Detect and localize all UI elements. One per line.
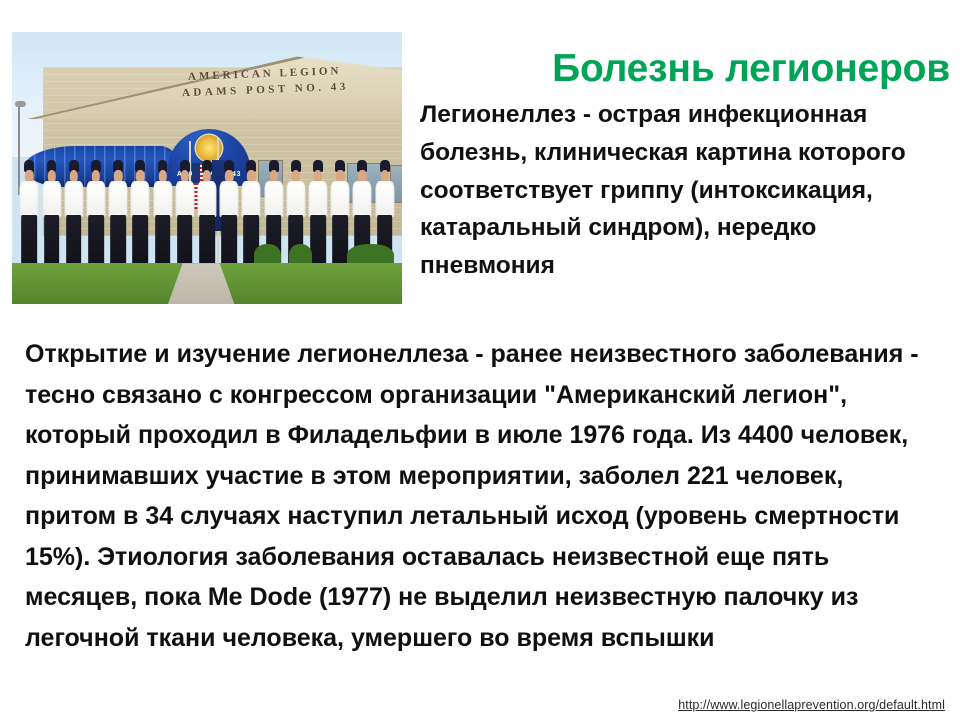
legionnaire xyxy=(131,160,150,269)
lead-paragraph: Легионеллез - острая инфекционная болезн… xyxy=(420,96,956,285)
legionnaire xyxy=(153,160,172,269)
source-url-link[interactable]: http://www.legionellaprevention.org/defa… xyxy=(678,698,945,712)
photo-color-guard-line xyxy=(20,160,394,269)
slide: AMERICAN LEGION ADAMS POST NO. 43 ADAMS … xyxy=(0,0,960,720)
legionnaire xyxy=(20,160,39,269)
photo-canvas: AMERICAN LEGION ADAMS POST NO. 43 ADAMS … xyxy=(12,32,402,304)
sign-line-2-text: ADAMS POST xyxy=(182,83,289,99)
legionnaire xyxy=(197,160,216,269)
legionnaire xyxy=(220,160,239,269)
legionnaire xyxy=(86,160,105,269)
sign-line-3-text: NO. 43 xyxy=(295,81,349,95)
slide-title: Болезнь легионеров xyxy=(420,48,950,91)
body-paragraph: Открытие и изучение легионеллеза - ранее… xyxy=(25,334,930,658)
legionnaire xyxy=(109,160,128,269)
legionnaire xyxy=(42,160,61,269)
legionnaire xyxy=(64,160,83,269)
legionnaire xyxy=(175,160,194,269)
legion-post-photo: AMERICAN LEGION ADAMS POST NO. 43 ADAMS … xyxy=(12,32,402,304)
